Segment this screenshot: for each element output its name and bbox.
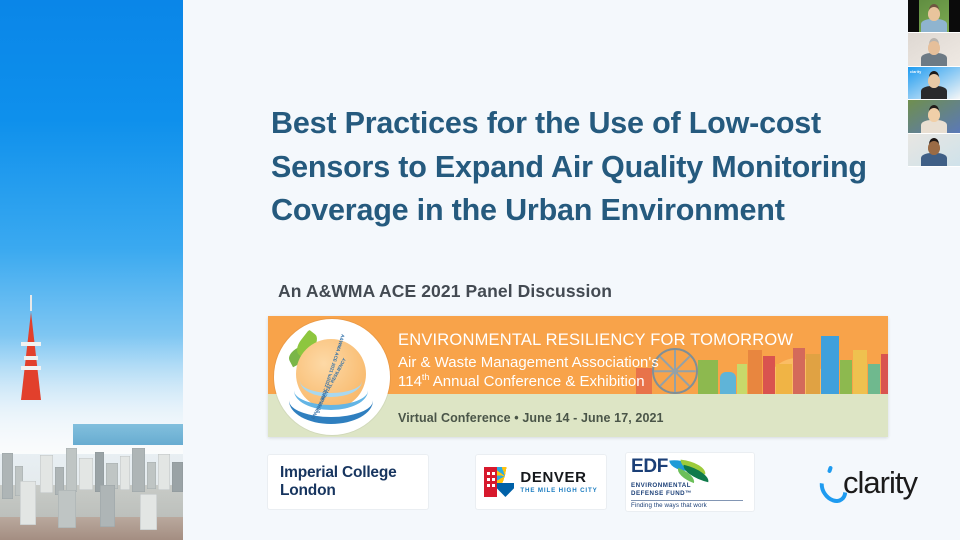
clarity-c-icon — [819, 466, 841, 498]
banner-text-block: ENVIRONMENTAL RESILIENCY FOR TOMORROW Ai… — [398, 330, 828, 392]
logo-environmental-defense-fund: EDF ENVIRONMENTAL DEFENSE FUND™ Finding … — [626, 453, 754, 511]
conference-banner: ENVIRONMENTAL RESILIENCY A&WMA ACE 2021 … — [268, 316, 888, 437]
banner-line-2: Air & Waste Management Association's — [398, 353, 828, 373]
sponsor-logo-row: Imperial College London — [268, 455, 960, 513]
edf-sub-line-2: DEFENSE FUND™ — [631, 490, 749, 498]
logo-arc-text: ENVIRONMENTAL RESILIENCY A&WMA ACE 2021 … — [280, 325, 384, 429]
denver-mark-icon — [484, 467, 514, 497]
denver-wordmark: DENVER — [520, 470, 597, 485]
letterbox-bars — [908, 0, 960, 32]
participant-tile-4[interactable] — [908, 100, 960, 133]
virtual-background-logo: clarity — [910, 70, 921, 74]
edf-leaf-icon — [670, 459, 714, 481]
slide-content: Best Practices for the Use of Low-cost S… — [183, 0, 960, 540]
imperial-line-1: Imperial College — [280, 464, 428, 482]
banner-headline: ENVIRONMENTAL RESILIENCY FOR TOMORROW — [398, 330, 828, 351]
page-title: Best Practices for the Use of Low-cost S… — [271, 102, 911, 232]
slide-subtitle: An A&WMA ACE 2021 Panel Discussion — [278, 281, 612, 302]
edf-sub-line-1: ENVIRONMENTAL — [631, 482, 749, 490]
tokyo-tower-icon — [21, 295, 41, 400]
participant-face — [928, 74, 940, 88]
logo-imperial-college-london: Imperial College London — [268, 455, 428, 509]
logo-clarity: clarity — [778, 455, 958, 509]
participant-tile-1[interactable] — [908, 0, 960, 33]
participant-tile-2[interactable] — [908, 33, 960, 66]
tokyo-skyline-photo — [0, 0, 183, 540]
logo-denver: DENVER THE MILE HIGH CITY — [476, 455, 606, 509]
participant-face — [928, 141, 940, 155]
awma-conference-logo: ENVIRONMENTAL RESILIENCY A&WMA ACE 2021 … — [274, 319, 390, 435]
city-buildings — [0, 394, 183, 540]
clarity-wordmark: clarity — [843, 467, 917, 498]
participant-filmstrip[interactable]: clarity — [908, 0, 960, 167]
edf-wordmark: EDF — [631, 458, 668, 476]
banner-line-3: 114th Annual Conference & Exhibition — [398, 372, 828, 392]
imperial-line-2: London — [280, 482, 428, 500]
edf-tagline: Finding the ways that work — [631, 502, 749, 509]
denver-tagline: THE MILE HIGH CITY — [520, 487, 597, 494]
participant-face — [928, 108, 940, 122]
participant-face — [928, 41, 940, 55]
presentation-slide: Best Practices for the Use of Low-cost S… — [0, 0, 960, 540]
banner-dates: Virtual Conference • June 14 - June 17, … — [398, 411, 664, 425]
participant-tile-5[interactable] — [908, 134, 960, 167]
participant-tile-3[interactable]: clarity — [908, 67, 960, 100]
edf-divider — [631, 500, 743, 501]
